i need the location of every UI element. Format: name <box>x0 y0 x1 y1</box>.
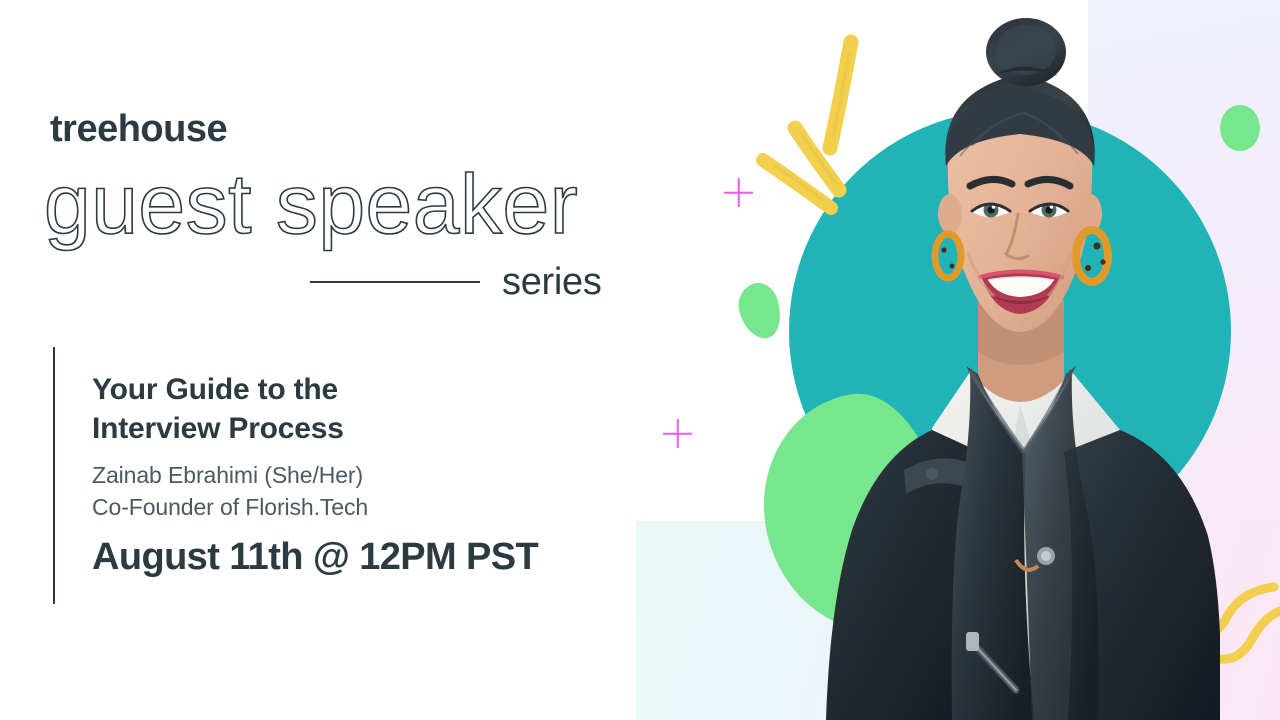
magenta-plus-icon-lower <box>663 419 692 448</box>
series-label: series <box>502 261 602 304</box>
text-content-block: treehouse guest speaker series Your Guid… <box>0 0 660 720</box>
talk-title-line-2: Interview Process <box>92 409 344 448</box>
speaker-portrait <box>820 0 1220 720</box>
series-row: series <box>310 258 625 306</box>
event-date-time: August 11th @ 12PM PST <box>92 536 538 579</box>
details-vertical-rule <box>53 347 55 604</box>
speaker-role: Co-Founder of Florish.Tech <box>92 494 368 521</box>
green-blob-small-icon <box>733 279 787 344</box>
series-divider-rule <box>310 281 480 283</box>
brand-wordmark: treehouse <box>50 108 227 151</box>
headline-guest-speaker: guest speaker <box>44 160 578 248</box>
magenta-plus-icon-upper <box>724 178 753 207</box>
green-circle-dot <box>1220 105 1260 151</box>
talk-title: Your Guide to the Interview Process <box>92 370 344 448</box>
promo-slide: treehouse guest speaker series Your Guid… <box>0 0 1280 720</box>
talk-title-line-1: Your Guide to the <box>92 370 344 409</box>
speaker-name: Zainab Ebrahimi (She/Her) <box>92 462 363 489</box>
